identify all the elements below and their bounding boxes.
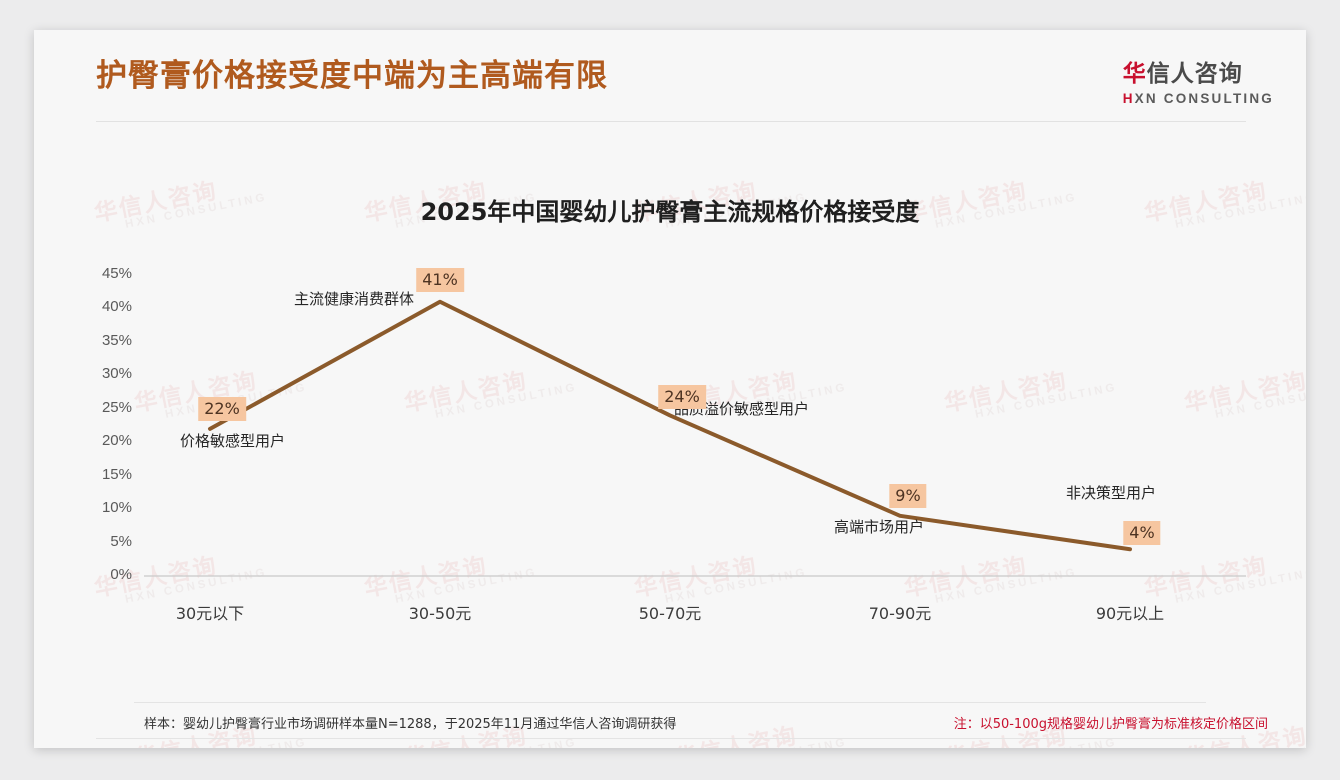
data-label: 22%: [198, 397, 246, 421]
methodology-note: 注：以50-100g规格婴幼儿护臀膏为标准核定价格区间: [954, 713, 1268, 732]
logo-cn-red: 华: [1123, 61, 1147, 87]
data-label: 9%: [889, 484, 926, 508]
y-axis-tick-label: 45%: [68, 265, 132, 282]
footer-divider-bottom: [96, 738, 1246, 739]
slide-header: 护臀膏价格接受度中端为主高端有限 华信人咨询 HXN CONSULTING: [34, 30, 1306, 122]
copyright-text: ©2026.1 HXR华信人咨询: [96, 746, 247, 748]
y-axis-tick-label: 40%: [68, 298, 132, 315]
logo-en-text: HXN CONSULTING: [1123, 91, 1274, 106]
y-axis-tick-label: 25%: [68, 399, 132, 416]
header-divider: [96, 121, 1246, 122]
logo-en-red: H: [1123, 91, 1135, 106]
x-axis-tick-label: 30-50元: [409, 600, 472, 624]
chart-annotation: 高端市场用户: [834, 516, 924, 537]
y-axis-tick-label: 20%: [68, 432, 132, 449]
x-axis-tick-label: 30元以下: [176, 600, 244, 624]
y-axis-tick-label: 15%: [68, 466, 132, 483]
logo-cn-rest: 信人咨询: [1147, 61, 1243, 87]
data-label: 24%: [658, 385, 706, 409]
chart-annotation: 主流健康消费群体: [294, 288, 414, 309]
chart-annotation: 非决策型用户: [1066, 482, 1156, 503]
y-axis-tick-label: 30%: [68, 365, 132, 382]
y-axis-tick-label: 5%: [68, 533, 132, 550]
website-text: www.hxrcon.com: [1148, 746, 1250, 748]
chart-title: 2025年中国婴幼儿护臀膏主流规格价格接受度: [34, 192, 1306, 227]
x-axis-tick-label: 90元以上: [1096, 600, 1164, 624]
footer-divider-top: [134, 702, 1206, 703]
data-label: 4%: [1123, 521, 1160, 545]
sample-note: 样本：婴幼儿护臀膏行业市场调研样本量N=1288，于2025年11月通过华信人咨…: [144, 713, 676, 732]
logo-en-rest: XN CONSULTING: [1135, 91, 1274, 106]
brand-logo: 华信人咨询 HXN CONSULTING: [1123, 54, 1274, 106]
chart-plot-area: 0%5%10%15%20%25%30%35%40%45%30元以下30-50元5…: [34, 30, 1306, 748]
logo-cn-text: 华信人咨询: [1123, 54, 1274, 88]
chart-annotation: 价格敏感型用户: [180, 430, 285, 451]
page-title: 护臀膏价格接受度中端为主高端有限: [96, 50, 608, 95]
y-axis-tick-label: 0%: [68, 566, 132, 583]
data-label: 41%: [416, 268, 464, 292]
slide-card: 华信人咨询HXN CONSULTING华信人咨询HXN CONSULTING华信…: [34, 30, 1306, 748]
series-line-price-acceptance: [210, 302, 1130, 549]
x-axis-tick-label: 50-70元: [639, 600, 702, 624]
y-axis-tick-label: 10%: [68, 499, 132, 516]
x-axis-tick-label: 70-90元: [869, 600, 932, 624]
y-axis-tick-label: 35%: [68, 332, 132, 349]
